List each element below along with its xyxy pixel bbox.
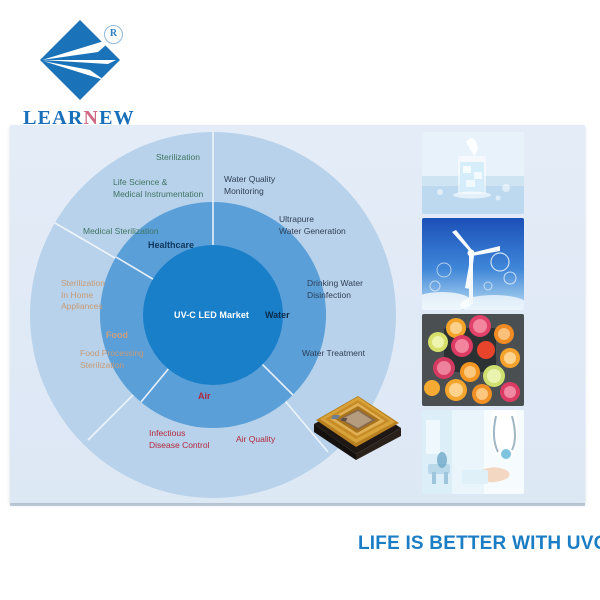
photo-strip [422,132,524,494]
outer-label-water-quality: Water Quality Monitoring [224,174,275,197]
poster-canvas: R LEARNEW [0,0,600,600]
mid-label-water: Water [265,310,290,320]
water-glass-photo [422,132,524,214]
brand-wordmark: LEARNEW [14,107,144,130]
outer-label-home-appliances: Sterilization In Home Appliances [61,278,105,313]
outer-label-life-science: Life Science & Medical Instrumentation [113,177,203,200]
mid-label-food: Food [106,330,128,340]
outer-label-water-treatment: Water Treatment [302,348,365,360]
wordmark-accent: N [83,107,99,129]
wordmark-suffix: EW [99,107,135,129]
mid-label-healthcare: Healthcare [148,240,194,250]
brand-logo: R LEARNEW [0,0,200,130]
outer-label-sterilization: Sterilization [156,152,200,164]
outer-label-drinking-water: Drinking Water Disinfection [307,278,363,301]
outer-label-medical-sterilization: Medical Sterilization [83,226,159,238]
registered-trademark-icon: R [104,25,123,44]
mid-label-air: Air [198,391,211,401]
citrus-fruit-photo [422,314,524,406]
wind-turbine-photo [422,218,524,310]
outer-label-ultrapure-water: Ultrapure Water Generation [279,214,346,237]
tagline-text: LIFE IS BETTER WITH UVC [358,533,600,555]
uvc-led-chip [306,378,406,460]
hub-label: UV-C LED Market [174,310,249,320]
outer-label-food-processing: Food Processing Sterilization [80,348,144,371]
wordmark-prefix: LEAR [23,107,83,129]
healthcare-photo [422,410,524,494]
outer-label-infectious-disease: Infectious Disease Control [149,428,209,451]
outer-label-air-quality: Air Quality [236,434,275,446]
